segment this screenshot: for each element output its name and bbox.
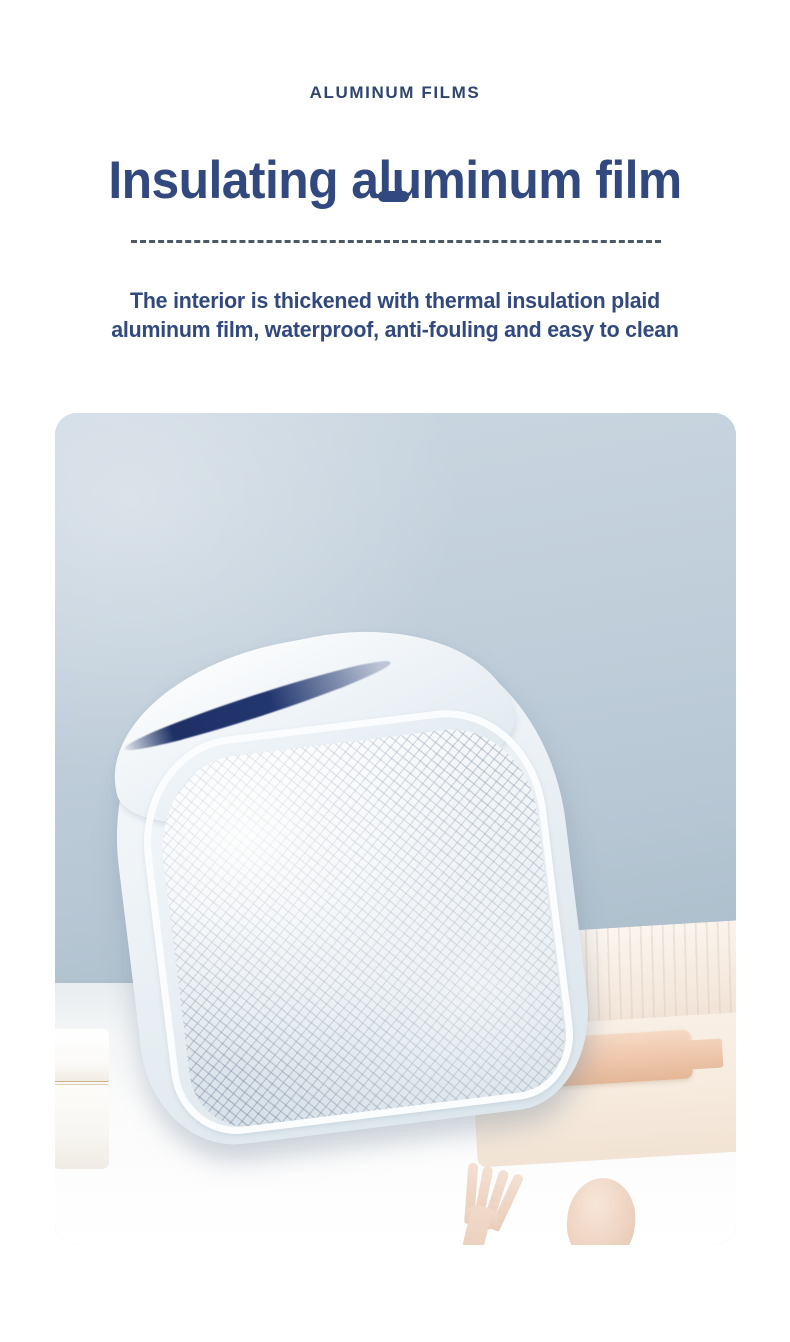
jar-lid bbox=[55, 1029, 109, 1081]
beige-spoon bbox=[554, 1174, 647, 1245]
fork-handle bbox=[454, 1208, 493, 1245]
bag-white-piping bbox=[132, 699, 582, 1141]
header-section: ALUMINUM FILMS Insulating aluminum film … bbox=[0, 0, 790, 400]
insulated-foil-bag bbox=[95, 620, 600, 1154]
eyebrow-label: ALUMINUM FILMS bbox=[0, 82, 790, 104]
product-detail-page: ALUMINUM FILMS Insulating aluminum film … bbox=[0, 0, 790, 1342]
jar-body bbox=[55, 1084, 109, 1169]
dashed-divider bbox=[131, 240, 661, 243]
title-accent-dash bbox=[378, 191, 409, 202]
spoon-bowl bbox=[562, 1175, 639, 1245]
subtitle: The interior is thickened with thermal i… bbox=[0, 286, 790, 344]
subtitle-line-2: aluminum film, waterproof, anti-fouling … bbox=[12, 315, 778, 344]
white-jar-gold-rim bbox=[55, 1029, 109, 1166]
product-photo bbox=[55, 413, 736, 1245]
subtitle-line-1: The interior is thickened with thermal i… bbox=[12, 286, 778, 315]
page-title: Insulating aluminum film bbox=[24, 149, 767, 213]
peach-clasp-tab bbox=[686, 1038, 723, 1069]
